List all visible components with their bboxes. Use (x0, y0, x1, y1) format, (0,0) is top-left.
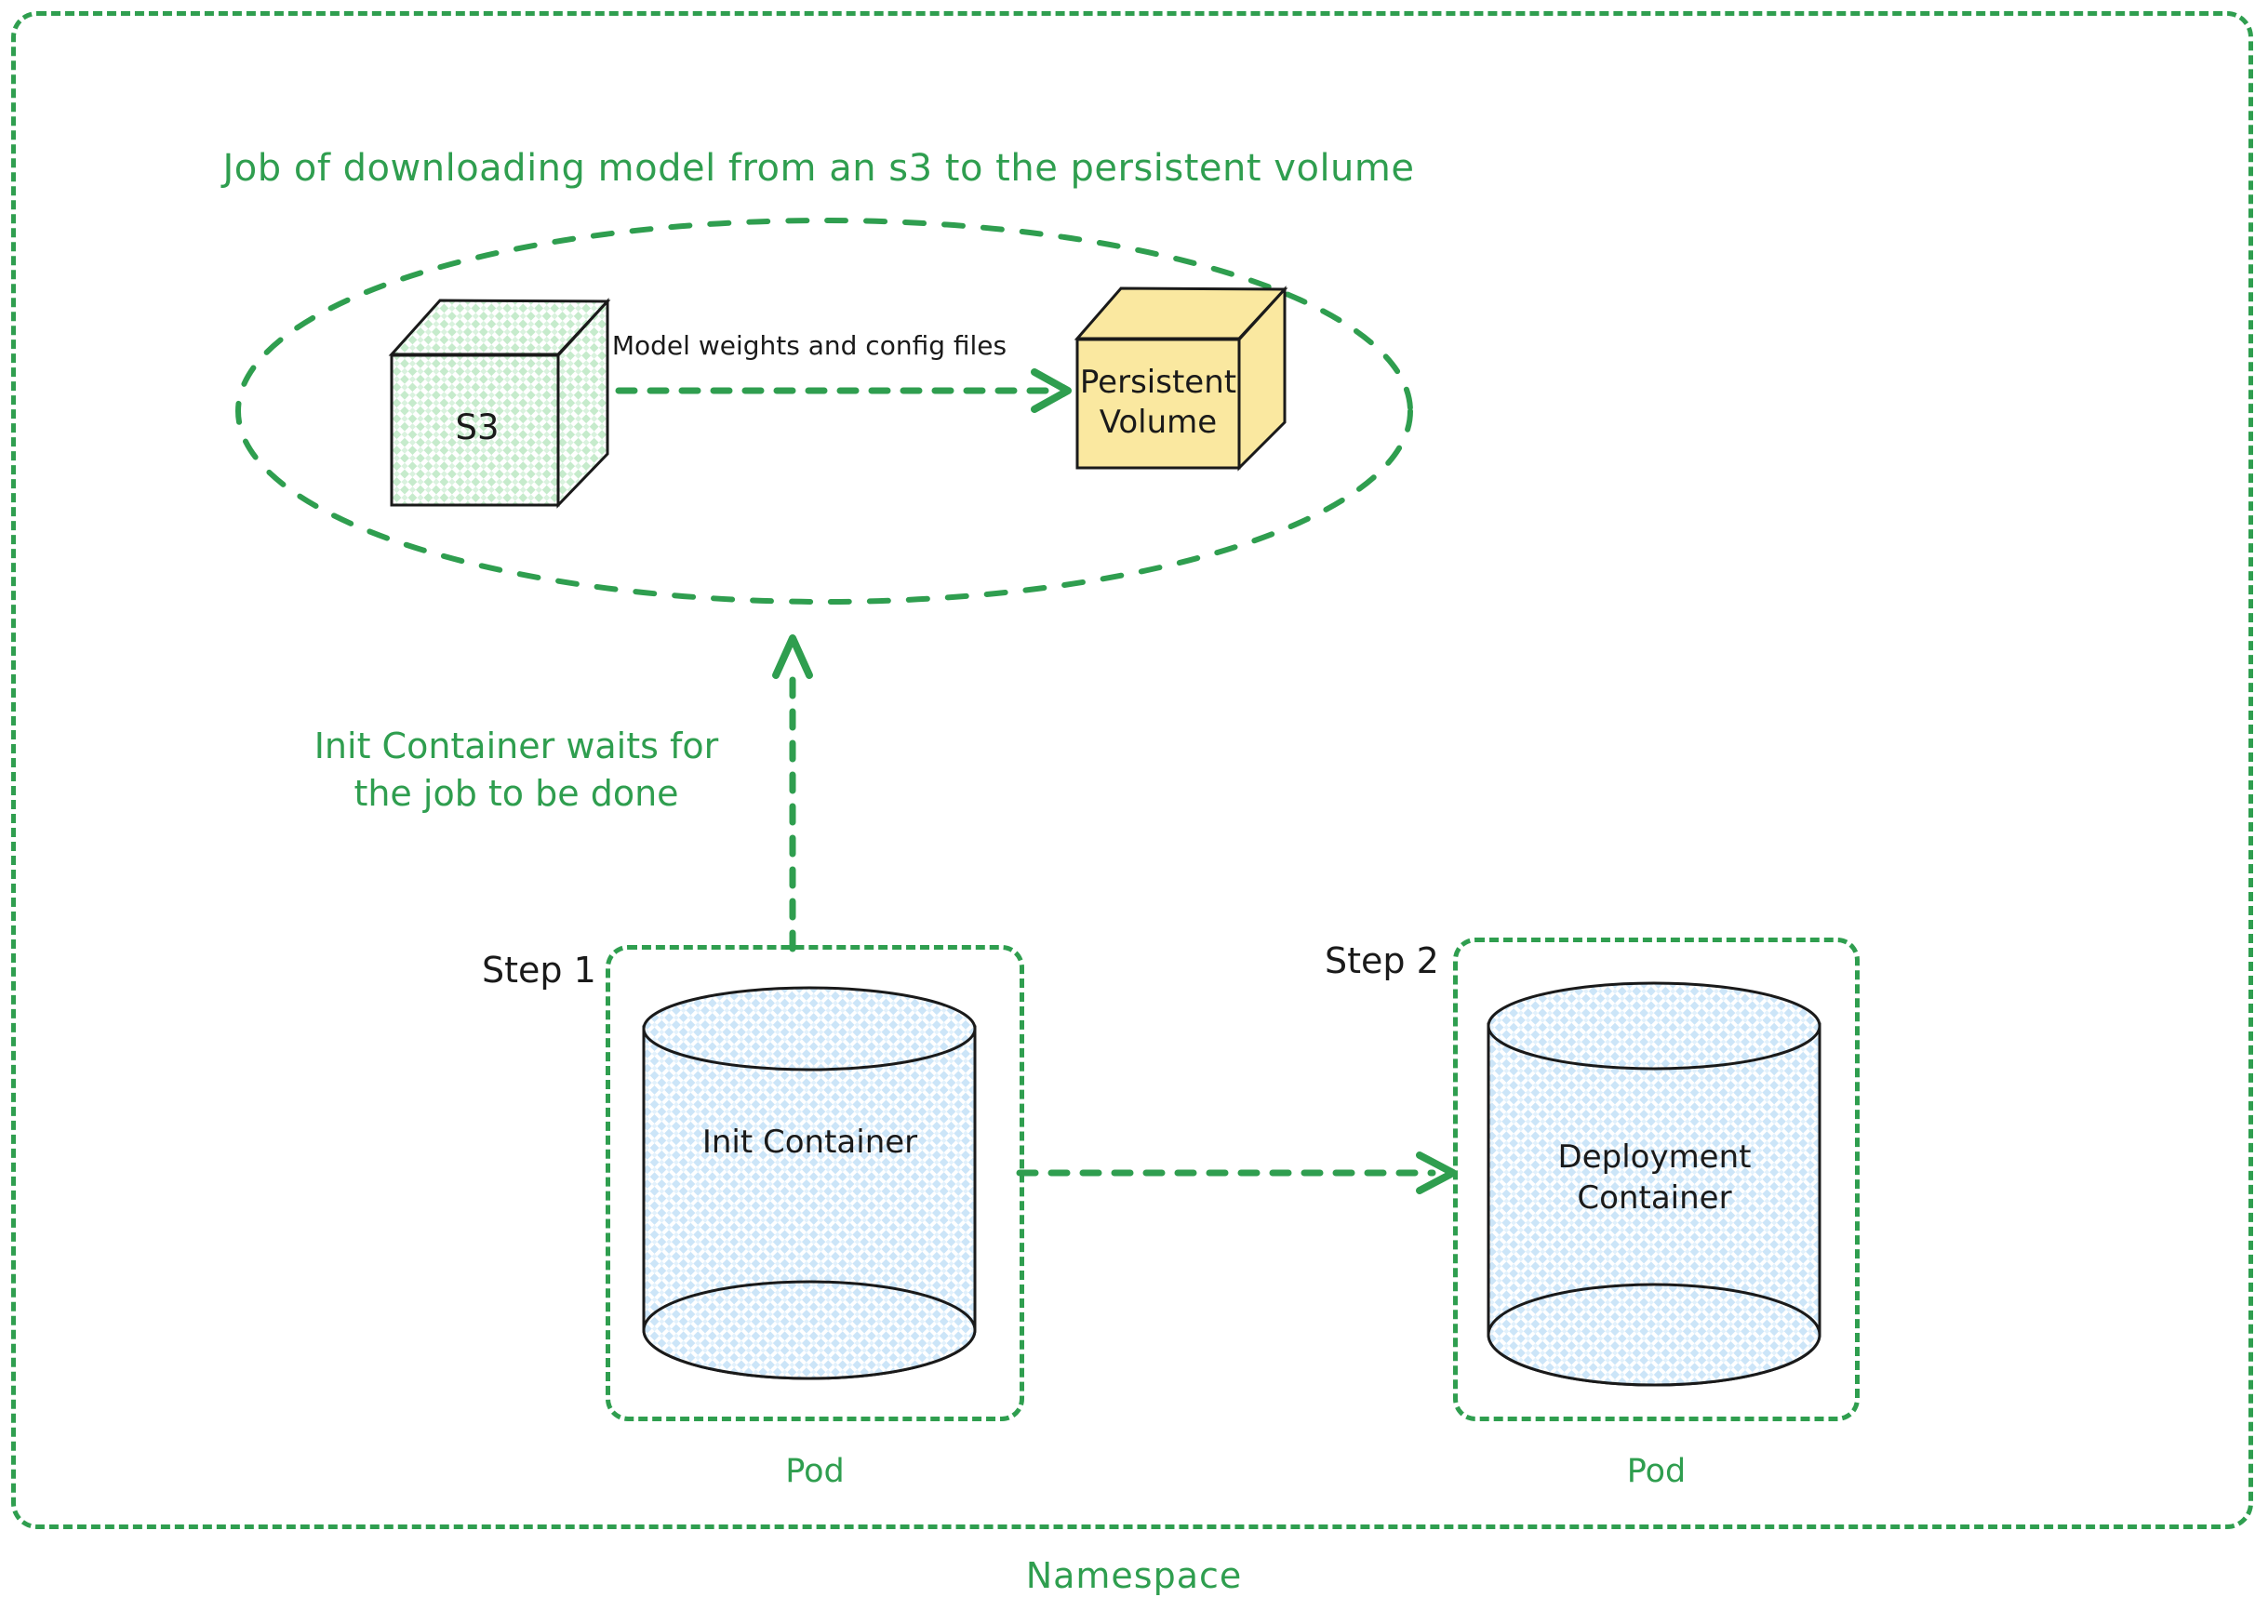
init-container-cylinder-icon (640, 984, 980, 1379)
pod-to-pod-arrow (1020, 1151, 1466, 1194)
job-title: Job of downloading model from an s3 to t… (0, 147, 1637, 190)
deployment-container-cylinder-icon (1485, 979, 1824, 1389)
pod-1-caption: Pod (606, 1453, 1024, 1490)
diagram-canvas: Job of downloading model from an s3 to t… (0, 0, 2268, 1624)
wait-label-line-2: the job to be done (270, 770, 763, 818)
persistent-volume-cube-icon (1074, 285, 1288, 508)
step-1-label: Step 1 (482, 950, 596, 991)
s3-cube-icon (389, 296, 612, 508)
transfer-arrow-label: Model weights and config files (605, 330, 1014, 361)
pod-2-caption: Pod (1453, 1453, 1860, 1490)
init-container-wait-label: Init Container waits for the job to be d… (270, 723, 763, 819)
model-transfer-arrow (619, 367, 1084, 414)
init-container-wait-arrow (774, 634, 811, 951)
step-2-label: Step 2 (1325, 940, 1439, 981)
namespace-label: Namespace (0, 1555, 2268, 1596)
wait-label-line-1: Init Container waits for (270, 723, 763, 770)
